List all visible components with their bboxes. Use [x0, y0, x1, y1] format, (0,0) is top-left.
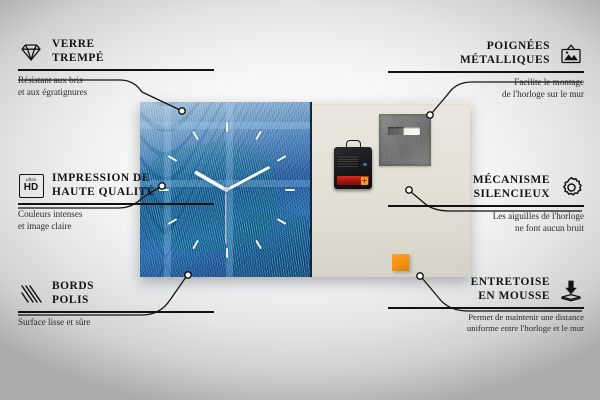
metal-hanger-plate: [379, 114, 431, 166]
feature-description: Couleurs intenses et image claire: [18, 208, 214, 232]
feature-header: VERRE TREMPÉ: [18, 38, 214, 66]
feature-description: Résistant aux bris et aux égratignures: [18, 74, 214, 98]
wall-hanger-frame-icon: [558, 41, 584, 67]
feature-title: ENTRETOISE EN MOUSSE: [471, 276, 550, 304]
feature-header: ultra HD IMPRESSION DE HAUTE QUALITÉ: [18, 172, 214, 200]
battery: [337, 176, 369, 185]
hour-tick: [226, 122, 228, 132]
feature-divider: [18, 311, 214, 312]
ultra-hd-badge-icon: ultra HD: [18, 173, 44, 199]
diamond-icon: [18, 39, 44, 65]
back-panel-top-edge: [312, 102, 470, 105]
feature-title: MÉCANISME SILENCIEUX: [473, 174, 550, 202]
infographic-canvas: VERRE TREMPÉ Résistant aux bris et aux é…: [0, 0, 600, 400]
ultra-hd-large-text: HD: [24, 183, 38, 193]
battery-terminal: [361, 177, 368, 185]
gear-icon: [558, 175, 584, 201]
foam-spacer-pad: [392, 254, 409, 271]
feature-header: BORDS POLIS: [18, 280, 214, 308]
feature-mecanisme-silencieux: MÉCANISME SILENCIEUX Les aiguilles de l'…: [388, 174, 584, 234]
mechanism-indicator: [363, 163, 367, 166]
feature-divider: [388, 71, 584, 72]
clock-mechanism-box: [334, 147, 372, 189]
feature-title: VERRE TREMPÉ: [52, 38, 104, 66]
hour-tick: [285, 188, 295, 190]
feature-title: BORDS POLIS: [52, 280, 94, 308]
feature-impression-haute-qualite: ultra HD IMPRESSION DE HAUTE QUALITÉ Cou…: [18, 172, 214, 232]
feature-title: POIGNÉES MÉTALLIQUES: [460, 40, 550, 68]
feature-divider: [18, 69, 214, 70]
feature-description: Les aiguilles de l'horloge ne font aucun…: [388, 210, 584, 234]
feature-entretoise-en-mousse: ENTRETOISE EN MOUSSE Permet de maintenir…: [388, 276, 584, 335]
feature-header: MÉCANISME SILENCIEUX: [388, 174, 584, 202]
hour-tick: [226, 248, 228, 258]
mechanism-hanging-loop: [346, 140, 361, 150]
feature-header: ENTRETOISE EN MOUSSE: [388, 276, 584, 304]
polished-edges-icon: [18, 281, 44, 307]
feature-bords-polis: BORDS POLIS Surface lisse et sûre: [18, 280, 214, 328]
feature-divider: [18, 203, 214, 204]
feature-title: IMPRESSION DE HAUTE QUALITÉ: [52, 172, 155, 200]
foam-spacer-arrow-icon: [558, 277, 584, 303]
feature-divider: [388, 205, 584, 206]
feature-divider: [388, 307, 584, 308]
clock-center-hub: [224, 187, 229, 192]
feature-description: Permet de maintenir une distance uniform…: [388, 312, 584, 335]
feature-header: POIGNÉES MÉTALLIQUES: [388, 40, 584, 68]
mechanism-label: [338, 155, 358, 167]
hanger-keyhole-slot: [388, 127, 420, 135]
feature-description: Surface lisse et sûre: [18, 316, 214, 328]
feature-poignees-metalliques: POIGNÉES MÉTALLIQUES Facilite le montage…: [388, 40, 584, 100]
feature-verre-trempe: VERRE TREMPÉ Résistant aux bris et aux é…: [18, 38, 214, 98]
feature-description: Facilite le montage de l'horloge sur le …: [388, 76, 584, 100]
